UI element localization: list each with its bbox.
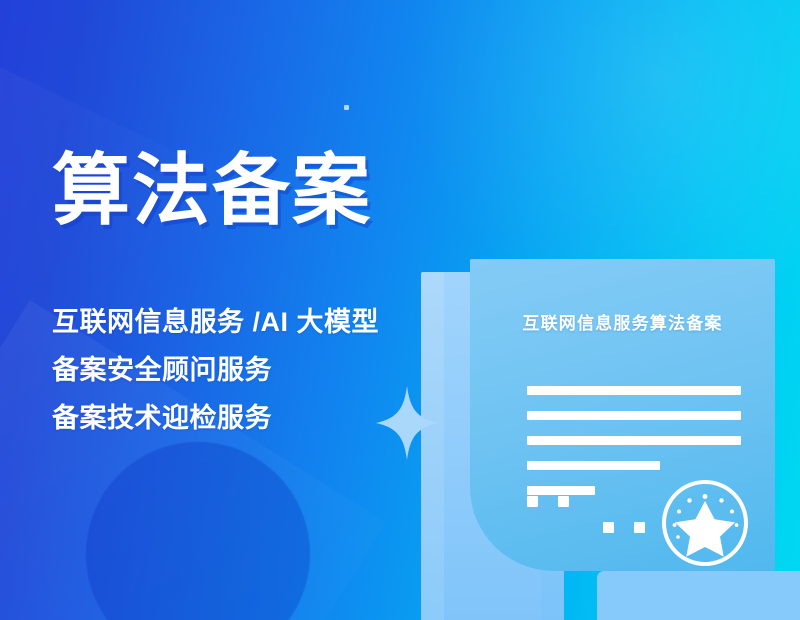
- document-card-title: 互联网信息服务算法备案: [470, 309, 775, 334]
- document-marker-square: [634, 522, 645, 533]
- document-text-line: [527, 461, 660, 470]
- algorithm-filing-banner: 算法备案 互联网信息服务 /AI 大模型 备案安全顾问服务 备案技术迎检服务 互…: [0, 0, 800, 620]
- document-marker-square: [558, 496, 569, 507]
- document-text-line: [527, 436, 741, 445]
- document-card-under-panel: [597, 571, 800, 620]
- star-seal-icon: [659, 477, 751, 569]
- document-text-line: [527, 386, 741, 395]
- document-text-line: [527, 411, 741, 420]
- document-marker-square: [603, 522, 614, 533]
- document-card-stack: 互联网信息服务算法备案: [0, 0, 800, 620]
- document-text-line: [527, 486, 595, 495]
- document-marker-square: [527, 496, 538, 507]
